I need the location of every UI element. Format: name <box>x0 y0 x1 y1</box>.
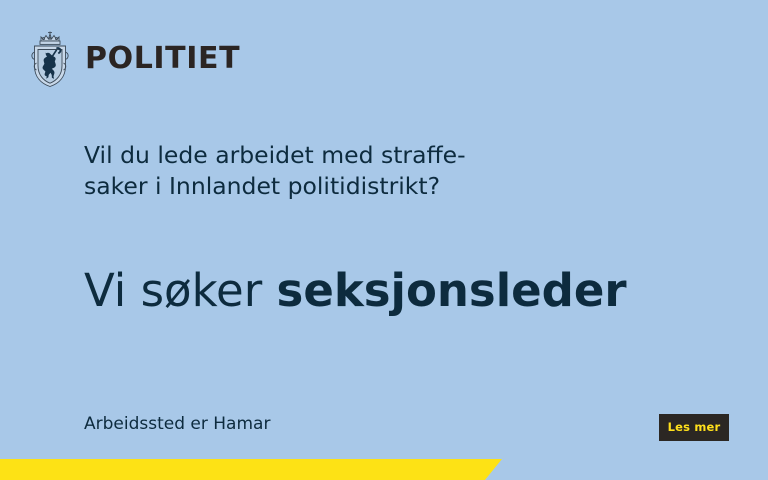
politiet-logo: POLITIET <box>28 30 240 88</box>
read-more-label: Les mer <box>668 422 721 434</box>
lead-line-2: saker i Innlandet politidistrikt? <box>84 171 644 202</box>
politiet-wordmark: POLITIET <box>85 44 240 74</box>
headline-prefix: Vi søker <box>84 264 277 317</box>
workplace-location: Arbeidssted er Hamar <box>84 413 270 435</box>
recruitment-banner: POLITIET Vil du lede arbeidet med straff… <box>0 0 768 480</box>
yellow-accent-bar <box>0 459 502 480</box>
lead-text: Vil du lede arbeidet med straffe- saker … <box>84 140 644 202</box>
page-title: Vi søker seksjonsleder <box>84 264 627 318</box>
lead-line-1: Vil du lede arbeidet med straffe- <box>84 140 644 171</box>
headline-job-title: seksjonsleder <box>277 264 627 317</box>
norwegian-coat-of-arms-icon <box>28 30 72 88</box>
read-more-button[interactable]: Les mer <box>659 414 729 441</box>
